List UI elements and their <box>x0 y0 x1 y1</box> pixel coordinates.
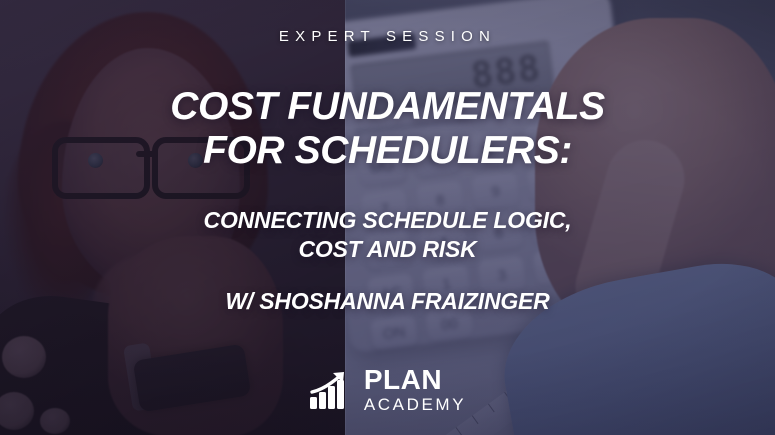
promo-content: EXPERT SESSION COST FUNDAMENTALS FOR SCH… <box>0 0 775 435</box>
logo-primary-text: PLAN <box>364 366 466 394</box>
bar-chart-arrow-icon <box>309 370 355 410</box>
promo-subtitle: CONNECTING SCHEDULE LOGIC, COST AND RISK <box>0 206 775 264</box>
promo-banner: 888 MU M- M+ ÷ 7 8 9 − +/− 4 6 + AC 1 3 … <box>0 0 775 435</box>
promo-subtitle-line-1: CONNECTING SCHEDULE LOGIC, <box>0 206 775 235</box>
promo-title-line-1: COST FUNDAMENTALS <box>0 85 775 129</box>
eyebrow-label: EXPERT SESSION <box>0 28 775 45</box>
logo-secondary-text: ACADEMY <box>364 396 466 413</box>
plan-academy-logo: PLAN ACADEMY <box>0 366 775 413</box>
logo-wordmark: PLAN ACADEMY <box>364 366 466 413</box>
promo-title-line-2: FOR SCHEDULERS: <box>0 129 775 173</box>
promo-title: COST FUNDAMENTALS FOR SCHEDULERS: <box>0 85 775 173</box>
presenter-credit: W/ SHOSHANNA FRAIZINGER <box>0 288 775 315</box>
promo-subtitle-line-2: COST AND RISK <box>0 235 775 264</box>
